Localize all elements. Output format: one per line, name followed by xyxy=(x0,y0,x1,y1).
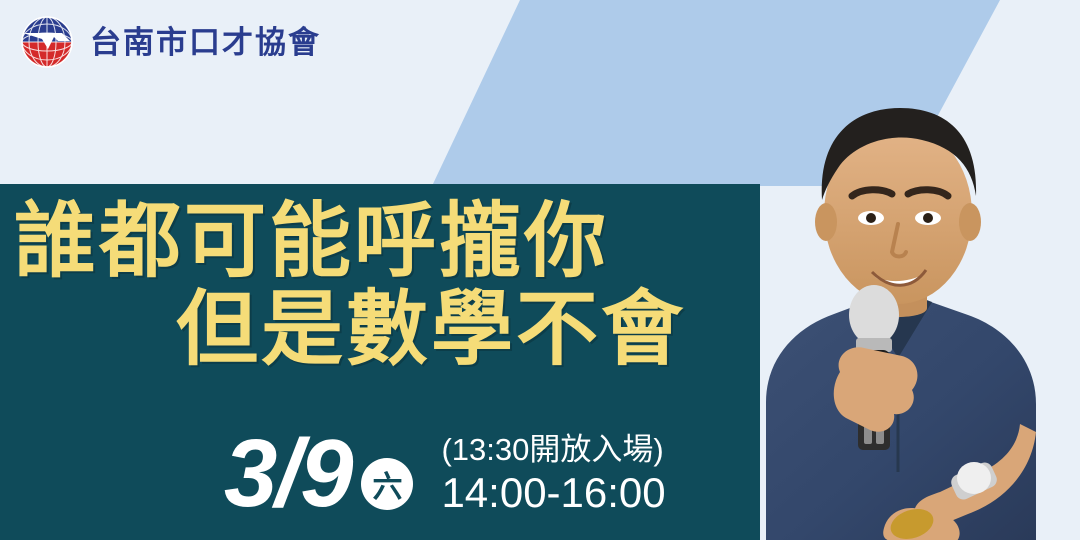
organization-logo: 台南市口才協會 xyxy=(18,13,321,71)
ear-right xyxy=(959,203,981,241)
pupil-right xyxy=(923,213,933,223)
organization-name: 台南市口才協會 xyxy=(90,27,321,58)
event-date: 3/9 xyxy=(224,430,351,518)
doors-open-note: (13:30開放入場) xyxy=(441,431,665,470)
event-time-range: 14:00-16:00 xyxy=(441,469,665,516)
headline-line-1: 誰都可能呼攏你 xyxy=(0,198,760,286)
headline-line-2: 但是數學不會 xyxy=(0,286,760,374)
globe-logo-icon xyxy=(18,13,76,71)
event-datetime-block: 3/9 六 (13:30開放入場) 14:00-16:00 xyxy=(224,430,666,518)
pupil-left xyxy=(866,213,876,223)
ear-left xyxy=(815,203,837,241)
event-banner: 台南市口才協會 誰都可能呼攏你 但是數學不會 3/9 六 (13:30開放入場)… xyxy=(0,0,1080,540)
time-column: (13:30開放入場) 14:00-16:00 xyxy=(441,431,665,517)
weekday-badge: 六 xyxy=(361,458,413,510)
speaker-photo xyxy=(706,72,1080,540)
headline-block: 誰都可能呼攏你 但是數學不會 xyxy=(0,198,760,373)
